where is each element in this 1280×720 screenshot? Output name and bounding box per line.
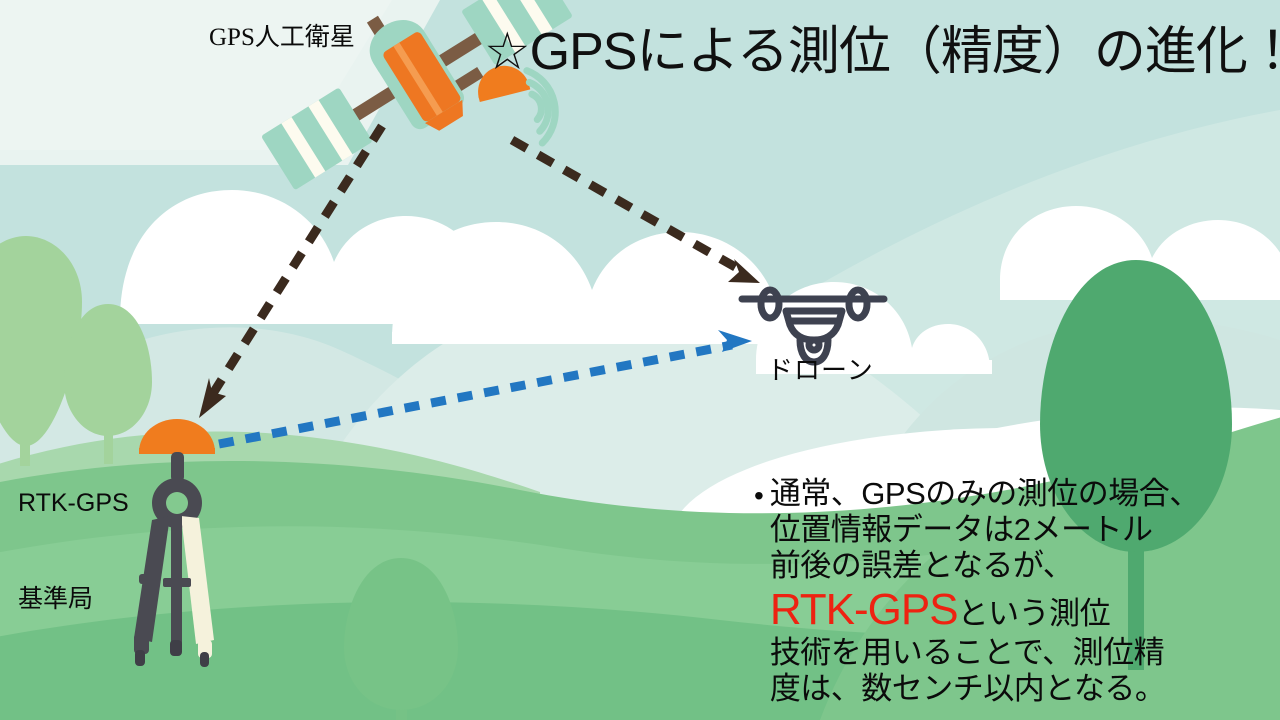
satellite-label: GPS人工衛星 [209, 25, 355, 50]
base-station-label-line1: RTK-GPS [18, 487, 129, 519]
drone-label: ドローン [767, 357, 874, 383]
bullet-body: 通常、GPSのみの測位の場合、 位置情報データは2メートル 前後の誤差となるが、… [770, 476, 1200, 707]
bullet-line-3: 前後の誤差となるが、 [770, 548, 1200, 584]
tripod-neck [171, 452, 184, 482]
base-station-label: RTK-GPS 基準局 [18, 423, 129, 679]
bullet-line-4-rest: という測位 [958, 596, 1111, 631]
base-station-label-line2: 基準局 [18, 583, 129, 615]
slide-canvas: ☆GPSによる測位（精度）の進化！ GPS人工衛星 ドローン RTK-GPS 基… [0, 0, 1280, 720]
rtk-gps-emphasis: RTK-GPS [770, 585, 958, 634]
bullet-text-block: • 通常、GPSのみの測位の場合、 位置情報データは2メートル 前後の誤差となる… [754, 476, 1274, 707]
bullet-marker: • [754, 482, 764, 510]
bullet-line-1: 通常、GPSのみの測位の場合、 [770, 476, 1200, 512]
tripod-brace-vertical [172, 570, 181, 594]
page-title: ☆GPSによる測位（精度）の進化！ [484, 26, 1280, 78]
bullet-line-4: RTK-GPSという測位 [770, 584, 1200, 635]
tripod-head-hole [166, 492, 188, 514]
bullet-line-2: 位置情報データは2メートル [770, 512, 1200, 548]
tripod-brace-left-knob [139, 574, 153, 584]
bullet-line-5: 技術を用いることで、測位精 [770, 635, 1200, 671]
bullet-line-6: 度は、数センチ以内となる。 [770, 671, 1200, 707]
